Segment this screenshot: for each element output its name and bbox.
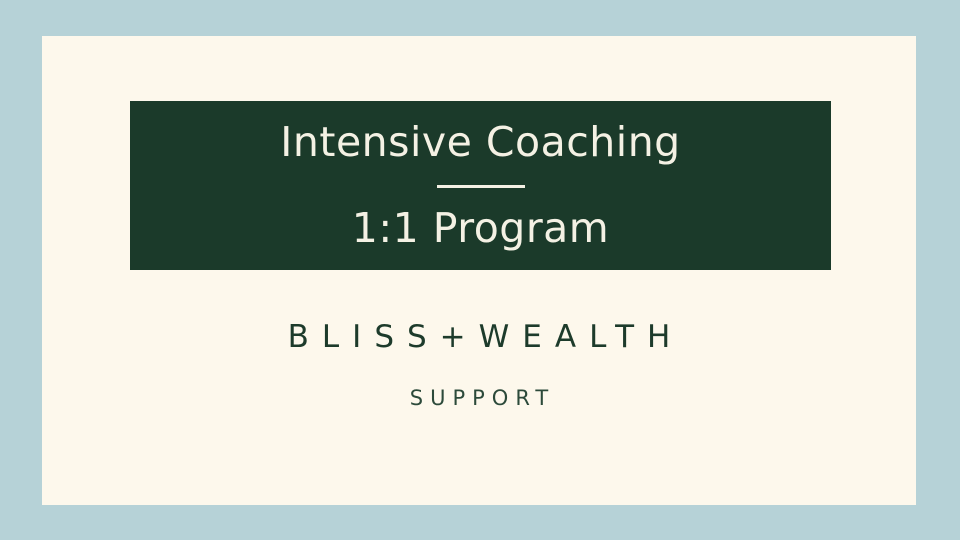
banner-title: Intensive Coaching xyxy=(280,122,680,163)
banner-divider-rule xyxy=(437,185,525,188)
logo-block: BLISS+WEALTH SUPPORT xyxy=(42,322,916,409)
brand-name: BLISS+WEALTH xyxy=(275,322,684,353)
content-card: Intensive Coaching 1:1 Program BLISS+WEA… xyxy=(42,36,916,505)
slide-canvas: Intensive Coaching 1:1 Program BLISS+WEA… xyxy=(0,0,960,540)
banner-subtitle: 1:1 Program xyxy=(352,208,610,249)
brand-subtitle: SUPPORT xyxy=(403,388,555,409)
title-banner: Intensive Coaching 1:1 Program xyxy=(130,101,831,270)
